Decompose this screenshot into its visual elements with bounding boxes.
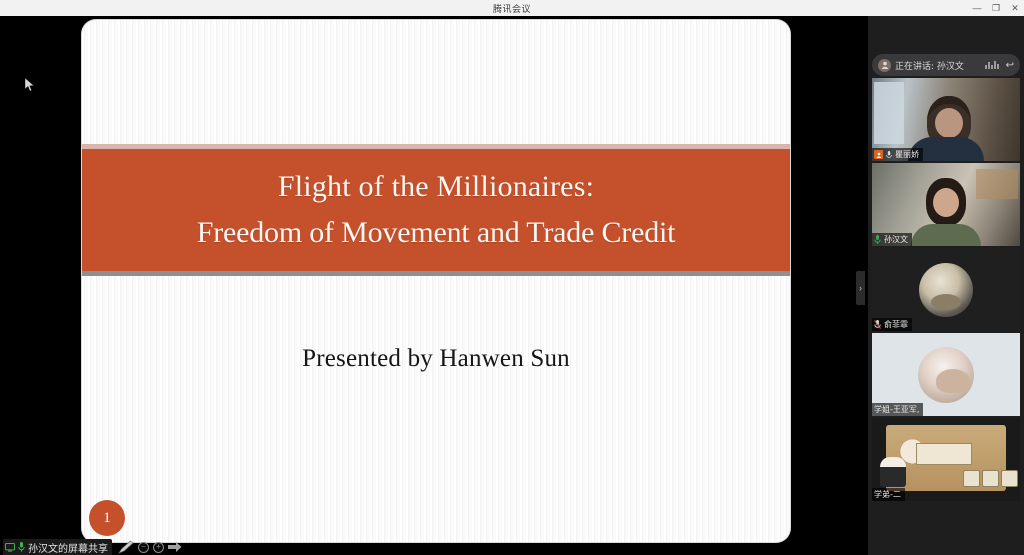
avatar <box>919 263 973 317</box>
slide-page-number: 1 <box>89 500 125 536</box>
slide-title-line-2: Freedom of Movement and Trade Credit <box>197 210 676 256</box>
participant-name: 学弟-二 <box>874 489 901 500</box>
slide-content: Flight of the Millionaires: Freedom of M… <box>82 20 790 542</box>
slide-subtitle: Presented by Hanwen Sun <box>82 345 790 373</box>
minimize-icon[interactable]: — <box>972 4 982 13</box>
maximize-icon[interactable]: ❐ <box>991 4 1001 13</box>
avatar-character <box>880 457 906 487</box>
next-slide-arrow-icon[interactable] <box>168 541 182 553</box>
zoom-out-button[interactable]: − <box>138 542 149 553</box>
shared-screen-area[interactable]: Flight of the Millionaires: Freedom of M… <box>0 16 868 555</box>
video-background-window <box>874 82 904 144</box>
video-subject-face <box>933 188 959 217</box>
audio-wave-icon <box>985 61 999 69</box>
participant-tile[interactable]: 学姐-王亚军, <box>872 333 1020 416</box>
slide-title-line-1: Flight of the Millionaires: <box>278 170 594 203</box>
video-background-shelf <box>976 169 1018 199</box>
participant-namebar: 学姐-王亚军, <box>872 403 923 416</box>
mouse-cursor-icon <box>25 78 35 92</box>
microphone-active-icon <box>874 235 881 244</box>
microphone-muted-icon <box>874 320 881 329</box>
participant-namebar: 学弟-二 <box>872 488 905 501</box>
participant-name: 孙汉文 <box>884 234 908 245</box>
participant-name: 俞菲霏 <box>884 319 908 330</box>
active-speaker-label: 正在讲话: 孙汉文 <box>895 59 964 72</box>
participant-name: 瞿丽娇 <box>895 149 919 160</box>
participant-namebar: 俞菲霏 <box>872 318 912 331</box>
window-titlebar: 腾讯会议 — ❐ ✕ <box>0 0 1024 16</box>
participant-name: 学姐-王亚军, <box>874 404 919 415</box>
video-subject-body <box>911 224 981 246</box>
annotation-tools: − + <box>116 540 182 554</box>
tencent-meeting-window: 腾讯会议 — ❐ ✕ Flight of the Millionaires: F… <box>0 0 1024 555</box>
microphone-muted-icon <box>886 151 892 159</box>
window-controls: — ❐ ✕ <box>972 0 1020 16</box>
presentation-slide[interactable]: Flight of the Millionaires: Freedom of M… <box>82 20 790 542</box>
monitor-icon <box>5 543 15 552</box>
screen-share-indicator: 孙汉文的屏幕共享 <box>3 539 112 555</box>
participant-tile[interactable]: 俞菲霏 <box>872 248 1020 331</box>
meeting-stage: Flight of the Millionaires: Freedom of M… <box>0 16 1024 555</box>
annotation-pen-icon[interactable] <box>118 540 134 554</box>
participant-tile[interactable]: 瞿丽娇 <box>872 78 1020 161</box>
slide-title: Flight of the Millionaires: Freedom of M… <box>197 164 676 255</box>
presenter-toolbar: 孙汉文的屏幕共享 − + <box>0 539 186 555</box>
avatar-tiles <box>963 470 1018 487</box>
participant-rail: 正在讲话: 孙汉文 ↩ <box>868 16 1024 555</box>
zoom-in-button[interactable]: + <box>153 542 164 553</box>
window-title: 腾讯会议 <box>493 2 531 15</box>
avatar-banner <box>916 443 972 465</box>
collapse-rail-handle[interactable]: › <box>856 271 865 305</box>
slide-title-band: Flight of the Millionaires: Freedom of M… <box>82 144 790 276</box>
participant-namebar: 孙汉文 <box>872 233 912 246</box>
participant-tile[interactable]: 孙汉文 <box>872 163 1020 246</box>
video-subject-face <box>935 108 963 138</box>
user-avatar-icon <box>878 59 891 72</box>
host-badge-icon <box>874 150 883 159</box>
participant-tile[interactable]: 学弟-二 <box>872 418 1020 501</box>
active-speaker-pill[interactable]: 正在讲话: 孙汉文 ↩ <box>872 54 1020 76</box>
microphone-icon <box>18 542 25 552</box>
close-icon[interactable]: ✕ <box>1010 4 1020 13</box>
screen-share-label: 孙汉文的屏幕共享 <box>28 540 108 555</box>
participant-namebar: 瞿丽娇 <box>872 148 923 161</box>
back-arrow-icon[interactable]: ↩ <box>1006 60 1014 71</box>
avatar <box>918 347 974 403</box>
